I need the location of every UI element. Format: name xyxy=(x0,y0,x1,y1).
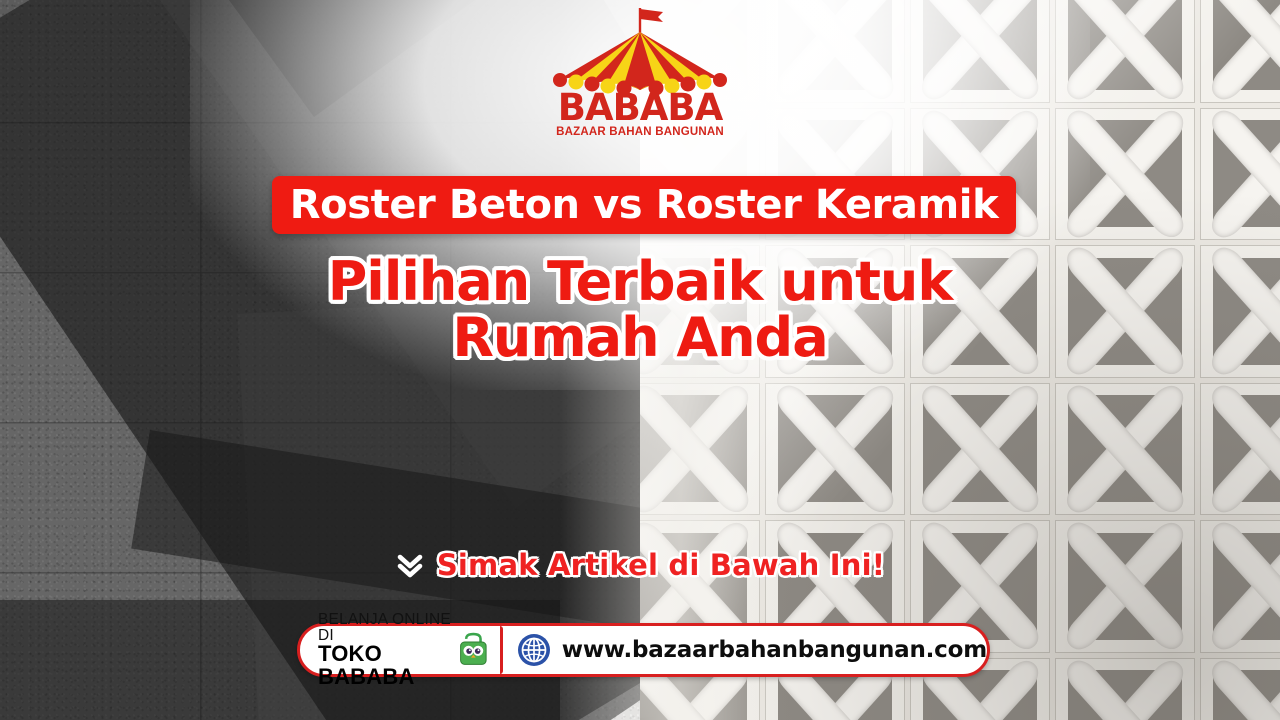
website-url: www.bazaarbahanbangunan.com xyxy=(562,637,987,663)
cta-row: Simak Artikel di Bawah Ini! xyxy=(0,548,1280,582)
website-section[interactable]: www.bazaarbahanbangunan.com xyxy=(517,633,987,667)
chevron-double-down-icon xyxy=(395,550,425,580)
headline-banner-text: Roster Beton vs Roster Keramik xyxy=(290,182,999,228)
promo-banner: BABABA BAZAAR BAHAN BANGUNAN Roster Beto… xyxy=(0,0,1280,720)
tokopedia-bag-owl-icon xyxy=(459,631,488,669)
subtitle-line-1: Pilihan Terbaik untuk xyxy=(0,256,1280,308)
footer-bar: BELANJA ONLINE DI TOKO BABABA xyxy=(297,623,990,677)
cta-text: Simak Artikel di Bawah Ini! xyxy=(437,548,885,582)
headline-banner: Roster Beton vs Roster Keramik xyxy=(272,176,1016,234)
headline-subtitle: Pilihan Terbaik untuk Rumah Anda xyxy=(0,256,1280,364)
shop-label-small: BELANJA ONLINE DI xyxy=(318,612,451,644)
circus-tent-icon xyxy=(530,4,750,96)
subtitle-line-2: Rumah Anda xyxy=(0,312,1280,364)
globe-icon xyxy=(517,633,551,667)
footer-divider xyxy=(500,626,503,674)
shop-label-big: TOKO BABABA xyxy=(318,643,451,688)
logo-tagline: BAZAAR BAHAN BANGUNAN xyxy=(525,126,755,138)
shop-section[interactable]: BELANJA ONLINE DI TOKO BABABA xyxy=(300,626,500,674)
logo-wordmark: BABABA xyxy=(525,90,755,125)
bababa-logo: BABABA BAZAAR BAHAN BANGUNAN xyxy=(525,4,755,138)
